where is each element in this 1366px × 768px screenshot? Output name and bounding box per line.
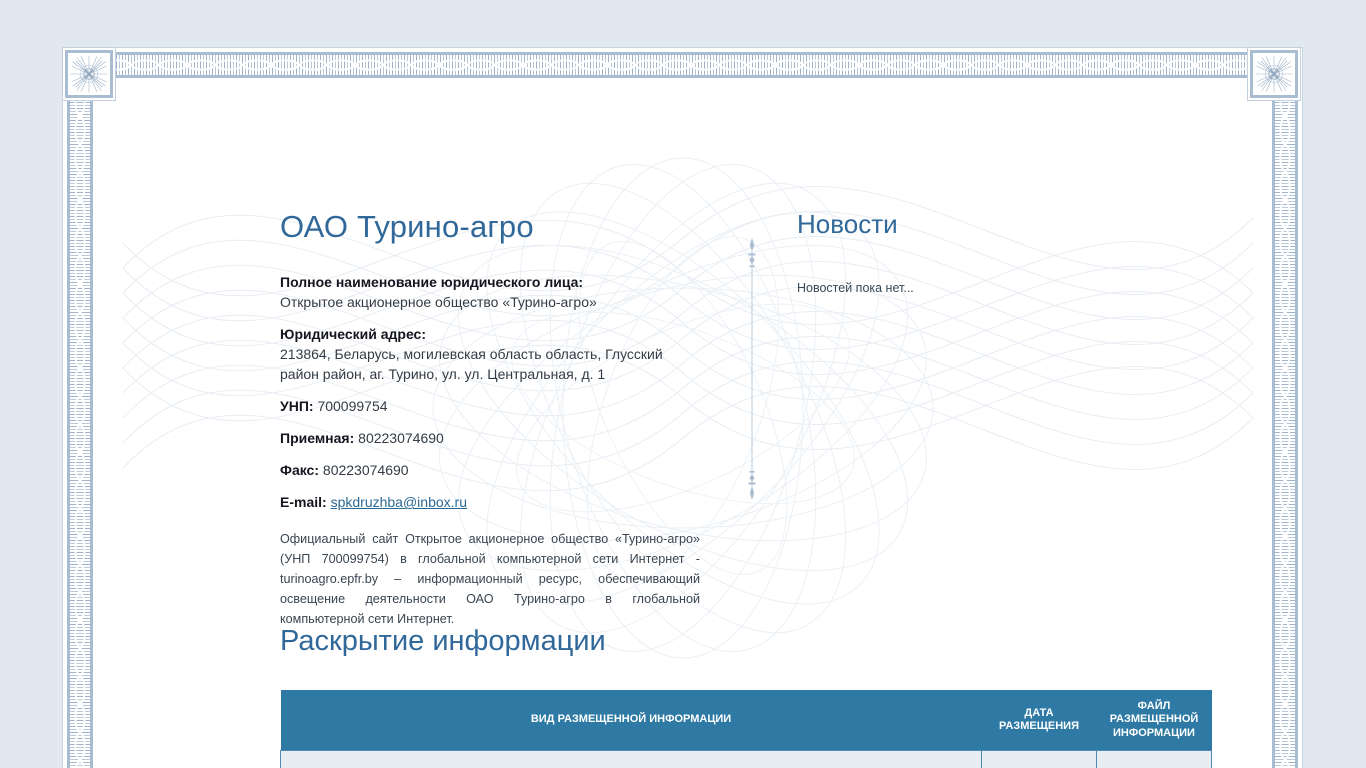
table-header-row: ВИД РАЗМЕЩЕННОЙ ИНФОРМАЦИИ ДАТА РАЗМЕЩЕН…: [281, 690, 1212, 751]
unp-label: УНП:: [280, 398, 314, 414]
column-header-date-line2: РАЗМЕЩЕНИЯ: [999, 720, 1079, 732]
cell-date: 30-04-2025: [982, 751, 1097, 768]
address-line-2: район район, аг. Турино, ул. ул. Централ…: [280, 364, 700, 384]
field-address: Юридический адрес: 213864, Беларусь, мог…: [280, 324, 700, 384]
reception-label: Приемная:: [280, 430, 354, 446]
full-name-label: Полное наименование юридического лица:: [280, 274, 583, 290]
disclosure-table: ВИД РАЗМЕЩЕННОЙ ИНФОРМАЦИИ ДАТА РАЗМЕЩЕН…: [280, 690, 1212, 768]
column-header-kind: ВИД РАЗМЕЩЕННОЙ ИНФОРМАЦИИ: [281, 690, 982, 751]
news-title: Новости: [797, 210, 1127, 239]
column-header-file: ФАЙЛ РАЗМЕЩЕННОЙ ИНФОРМАЦИИ: [1097, 690, 1212, 751]
certificate-frame: ОАО Турино-агро Полное наименование юрид…: [63, 48, 1302, 768]
about-paragraph: Официальный сайт Открытое акционерное об…: [280, 530, 700, 629]
disclosure-title: Раскрытие информации: [280, 626, 1211, 658]
border-band-left: [67, 88, 93, 768]
content-area: ОАО Турино-агро Полное наименование юрид…: [168, 148, 1323, 768]
field-full-name: Полное наименование юридического лица: О…: [280, 272, 700, 312]
field-fax: Факс: 80223074690: [280, 460, 700, 480]
certificate-page: ОАО Турино-агро Полное наименование юрид…: [0, 0, 1366, 768]
unp-value: 700099754: [317, 398, 387, 414]
corner-rosette-top-left: [65, 50, 113, 98]
column-header-file-line3: ИНФОРМАЦИИ: [1113, 727, 1195, 739]
column-header-date: ДАТА РАЗМЕЩЕНИЯ: [982, 690, 1097, 751]
address-line-1: 213864, Беларусь, могилевская область об…: [280, 344, 700, 364]
fax-value: 80223074690: [323, 462, 409, 478]
field-unp: УНП: 700099754: [280, 396, 700, 416]
disclosure-section: Раскрытие информации ВИД РАЗМЕЩЕННОЙ ИНФ…: [280, 626, 1211, 768]
page-title: ОАО Турино-агро: [280, 210, 700, 244]
full-name-value: Открытое акционерное общество «Турино-аг…: [280, 294, 597, 310]
email-link[interactable]: spkdruzhba@inbox.ru: [331, 494, 467, 510]
news-column: Новости Новостей пока нет...: [797, 210, 1127, 295]
field-email: E-mail: spkdruzhba@inbox.ru: [280, 492, 700, 512]
cell-kind: 3.Примечание к отчетности 2024, предусмо…: [281, 751, 982, 768]
disclosure-table-body: 3.Примечание к отчетности 2024, предусмо…: [281, 751, 1212, 768]
disclosure-table-head: ВИД РАЗМЕЩЕННОЙ ИНФОРМАЦИИ ДАТА РАЗМЕЩЕН…: [281, 690, 1212, 751]
cell-file: скачать: [1097, 751, 1212, 768]
email-label: E-mail:: [280, 494, 327, 510]
company-info-column: ОАО Турино-агро Полное наименование юрид…: [280, 210, 700, 642]
column-header-file-line1: ФАЙЛ: [1138, 700, 1171, 712]
reception-value: 80223074690: [358, 430, 444, 446]
column-header-file-line2: РАЗМЕЩЕННОЙ: [1110, 713, 1199, 725]
column-header-date-line1: ДАТА: [1024, 707, 1053, 719]
border-band-top: [103, 52, 1258, 78]
address-label: Юридический адрес:: [280, 326, 426, 342]
fax-label: Факс:: [280, 462, 319, 478]
news-empty-message: Новостей пока нет...: [797, 281, 1127, 295]
column-divider-ornament: [747, 238, 757, 500]
table-row: 3.Примечание к отчетности 2024, предусмо…: [281, 751, 1212, 768]
corner-rosette-top-right: [1250, 50, 1298, 98]
field-reception: Приемная: 80223074690: [280, 428, 700, 448]
